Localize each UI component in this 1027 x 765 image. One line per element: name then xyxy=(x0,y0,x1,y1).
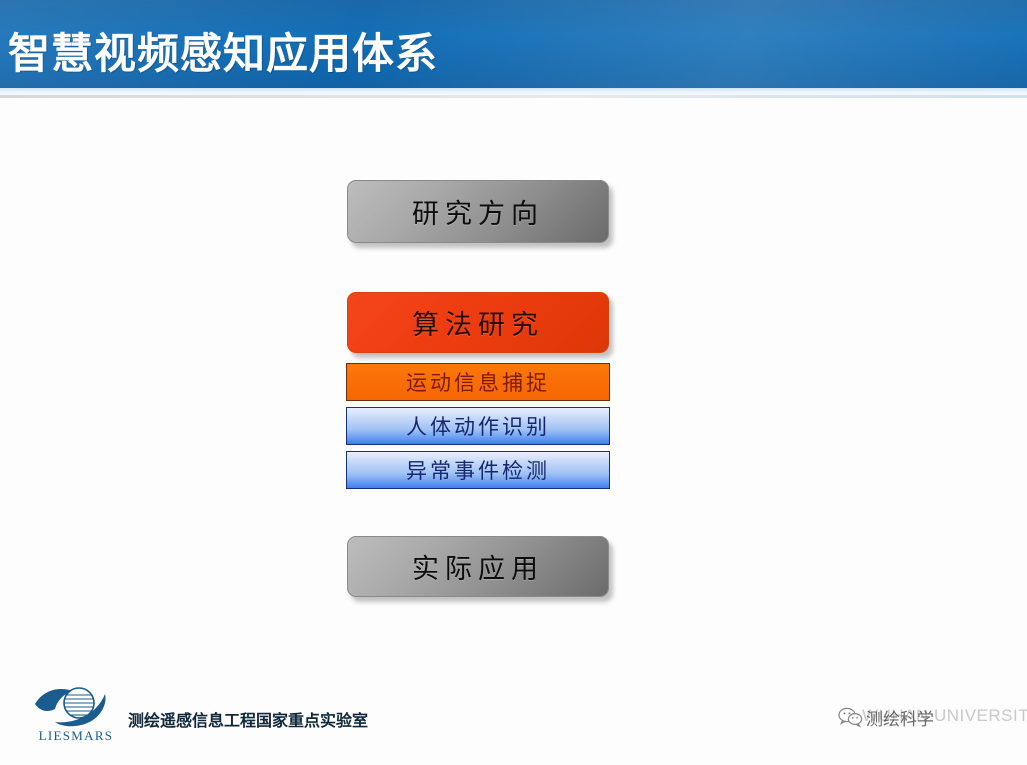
banner-underline-shadow xyxy=(0,95,1027,98)
node-practical-application-label: 实际应用 xyxy=(412,547,544,586)
wechat-watermark: 测绘科学 xyxy=(838,704,934,730)
node-algorithm-research-label: 算法研究 xyxy=(412,303,544,342)
node-motion-capture[interactable]: 运动信息捕捉 xyxy=(346,363,610,401)
node-algorithm-research[interactable]: 算法研究 xyxy=(347,292,609,353)
wechat-icon xyxy=(838,706,864,728)
node-human-action-recognition-label: 人体动作识别 xyxy=(406,411,550,441)
page-title: 智慧视频感知应用体系 xyxy=(8,28,438,80)
liesmars-wordmark: LIESMARS xyxy=(33,728,119,744)
node-research-direction[interactable]: 研究方向 xyxy=(347,180,609,243)
watermark-text: 测绘科学 xyxy=(866,705,934,730)
diagram-canvas: 研究方向 算法研究 运动信息捕捉 人体动作识别 异常事件检测 实际应用 xyxy=(0,0,1027,765)
liesmars-globe-icon xyxy=(33,682,119,730)
liesmars-logo: LIESMARS xyxy=(33,682,119,752)
node-motion-capture-label: 运动信息捕捉 xyxy=(406,367,550,397)
node-research-direction-label: 研究方向 xyxy=(412,192,544,231)
node-human-action-recognition[interactable]: 人体动作识别 xyxy=(346,407,610,445)
node-abnormal-event-detection[interactable]: 异常事件检测 xyxy=(346,451,610,489)
lab-name: 测绘遥感信息工程国家重点实验室 xyxy=(128,707,368,731)
node-abnormal-event-detection-label: 异常事件检测 xyxy=(406,455,550,485)
node-practical-application[interactable]: 实际应用 xyxy=(347,536,609,597)
